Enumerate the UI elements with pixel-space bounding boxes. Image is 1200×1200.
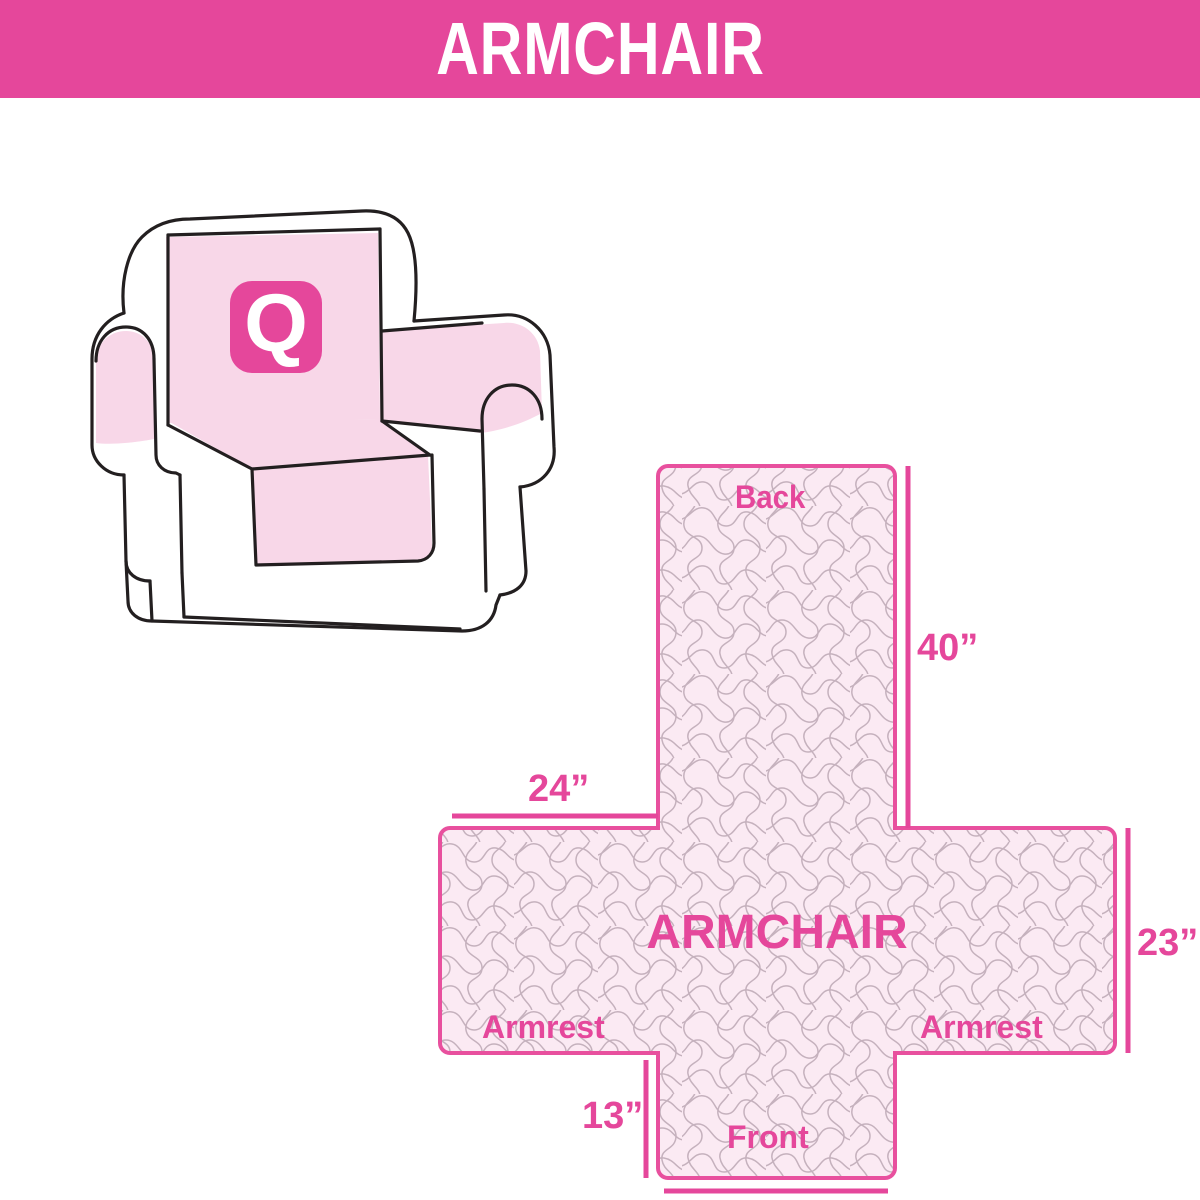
slipcover-layout-diagram: Back Armrest Armrest Front ARMCHAIR 40” … [430,338,1200,1198]
panel-label-armrest-right: Armrest [920,1009,1043,1045]
dim-label-armrest-width: 24” [528,768,589,810]
chair-logo: Q [230,278,322,373]
dim-label-seat-depth: 23” [1137,922,1198,964]
dim-label-back-height: 40” [917,627,978,669]
dim-label-front-drop: 13” [582,1095,643,1137]
cover-cross-shape [440,466,1115,1178]
chair-base-left [150,581,152,621]
page-title: ARMCHAIR [436,12,765,86]
panel-label-front: Front [727,1119,809,1155]
header-banner: ARMCHAIR [0,0,1200,98]
chair-back-right-seam [380,229,382,421]
chair-seat-front-fabric [252,455,432,565]
content-area: Q [0,98,1200,1200]
chair-left-armpanel-seam [180,475,182,573]
chair-left-arm-fabric [96,331,154,444]
logo-letter: Q [244,278,308,369]
panel-label-back: Back [735,479,806,515]
panel-label-armrest-left: Armrest [482,1009,605,1045]
diagram-center-label: ARMCHAIR [646,906,907,959]
chair-base-front [182,573,184,617]
chair-left-arm-front [124,475,150,581]
